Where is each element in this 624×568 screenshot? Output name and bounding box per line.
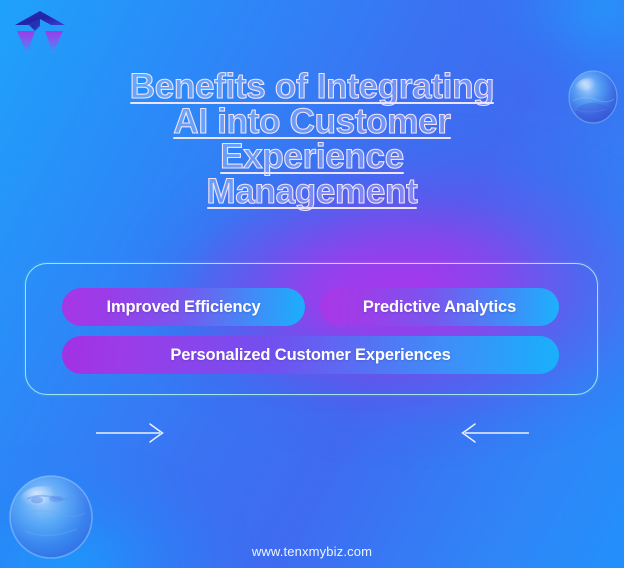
benefit-pill-label: Predictive Analytics <box>363 298 516 317</box>
benefit-pill-predictive-analytics[interactable]: Predictive Analytics <box>320 288 559 326</box>
benefit-pill-label: Improved Efficiency <box>107 298 261 317</box>
benefits-panel <box>25 263 598 395</box>
benefit-pill-personalized-customer-experiences[interactable]: Personalized Customer Experiences <box>62 336 559 374</box>
globe-sphere-icon-top-right <box>567 68 619 126</box>
poster-canvas: Benefits of Integrating AI into Customer… <box>0 0 624 568</box>
footer-website-url[interactable]: www.tenxmybiz.com <box>0 544 624 559</box>
arrow-right-icon <box>96 420 166 446</box>
arrow-left-icon <box>459 420 529 446</box>
benefit-pill-label: Personalized Customer Experiences <box>170 346 450 365</box>
tenx-chevron-logo-icon <box>11 7 69 59</box>
benefit-pill-improved-efficiency[interactable]: Improved Efficiency <box>62 288 305 326</box>
